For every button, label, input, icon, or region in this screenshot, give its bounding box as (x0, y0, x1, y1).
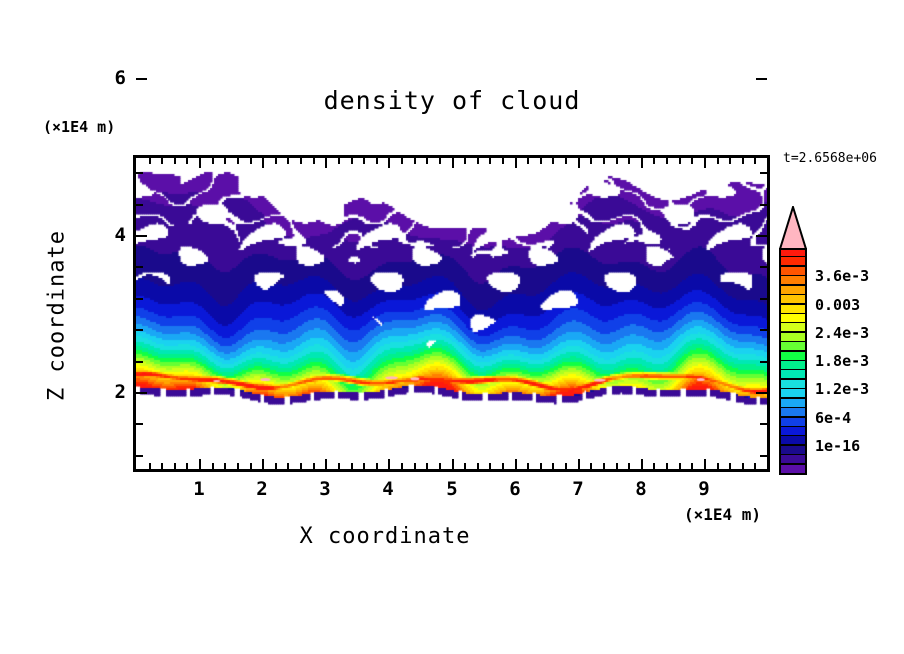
x-minor-tick-top (565, 158, 567, 164)
x-minor-tick-top (212, 158, 214, 164)
x-minor-tick (287, 463, 289, 469)
y-major-tick (136, 392, 147, 394)
x-minor-tick-top (363, 158, 365, 164)
x-tick-label: 5 (446, 478, 457, 500)
x-minor-tick (464, 463, 466, 469)
x-minor-tick-top (401, 158, 403, 164)
figure-root: density of cloud (×1E4 m) t=2.6568e+06 Z… (0, 0, 904, 654)
x-minor-tick-top (174, 158, 176, 164)
x-minor-tick-top (237, 158, 239, 164)
x-minor-tick-top (489, 158, 491, 164)
y-major-tick-right (756, 392, 767, 394)
x-minor-tick-top (439, 158, 441, 164)
x-minor-tick (414, 463, 416, 469)
x-tick-label: 9 (698, 478, 709, 500)
y-major-tick-right (756, 235, 767, 237)
x-minor-tick (742, 463, 744, 469)
x-minor-tick (628, 463, 630, 469)
contour-field (136, 158, 767, 469)
x-minor-tick (313, 463, 315, 469)
x-minor-tick-top (186, 158, 188, 164)
colorbar-tick-label: 3.6e-3 (815, 267, 869, 285)
y-minor-tick-right (760, 204, 767, 206)
x-minor-tick (540, 463, 542, 469)
y-tick-label: 4 (96, 224, 126, 246)
x-axis-title: X coordinate (0, 524, 770, 549)
time-annotation: t=2.6568e+06 (783, 151, 877, 166)
x-minor-tick (275, 463, 277, 469)
y-minor-tick (136, 172, 143, 174)
x-minor-tick-top (161, 158, 163, 164)
x-minor-tick-top (552, 158, 554, 164)
y-minor-tick (136, 423, 143, 425)
x-major-tick (388, 459, 390, 469)
x-minor-tick (565, 463, 567, 469)
x-minor-tick (552, 463, 554, 469)
x-minor-tick-top (502, 158, 504, 164)
x-tick-label: 7 (572, 478, 583, 500)
x-minor-tick (186, 463, 188, 469)
y-tick-label: 2 (96, 381, 126, 403)
plot-area (133, 155, 770, 472)
x-minor-tick-top (477, 158, 479, 164)
x-minor-tick (174, 463, 176, 469)
x-minor-tick (616, 463, 618, 469)
x-minor-tick-top (653, 158, 655, 164)
x-major-tick-top (704, 158, 706, 168)
x-minor-tick (754, 463, 756, 469)
x-minor-tick-top (666, 158, 668, 164)
x-minor-tick-top (691, 158, 693, 164)
y-minor-tick (136, 266, 143, 268)
x-tick-label: 3 (319, 478, 330, 500)
x-tick-label: 6 (509, 478, 520, 500)
x-minor-tick-top (224, 158, 226, 164)
x-minor-tick (237, 463, 239, 469)
x-minor-tick (300, 463, 302, 469)
x-minor-tick-top (742, 158, 744, 164)
x-major-tick-top (452, 158, 454, 168)
x-tick-label: 4 (382, 478, 393, 500)
y-minor-tick (136, 361, 143, 363)
x-minor-tick-top (527, 158, 529, 164)
colorbar-tick-label: 6e-4 (815, 409, 851, 427)
x-minor-tick-top (590, 158, 592, 164)
x-minor-tick-top (464, 158, 466, 164)
colorbar-band (779, 465, 807, 475)
x-minor-tick (161, 463, 163, 469)
x-major-tick (578, 459, 580, 469)
x-minor-tick-top (729, 158, 731, 164)
x-minor-tick (338, 463, 340, 469)
x-minor-tick (224, 463, 226, 469)
y-major-tick (136, 235, 147, 237)
y-minor-tick-right (760, 329, 767, 331)
x-minor-tick-top (338, 158, 340, 164)
x-minor-tick (666, 463, 668, 469)
y-minor-tick-right (760, 298, 767, 300)
x-minor-tick-top (754, 158, 756, 164)
x-minor-tick (351, 463, 353, 469)
x-major-tick-top (388, 158, 390, 168)
x-major-tick-top (325, 158, 327, 168)
x-minor-tick-top (414, 158, 416, 164)
x-major-tick (199, 459, 201, 469)
x-tick-label: 2 (256, 478, 267, 500)
x-minor-tick (527, 463, 529, 469)
x-minor-tick (691, 463, 693, 469)
colorbar (779, 206, 807, 474)
x-minor-tick (679, 463, 681, 469)
x-minor-tick-top (616, 158, 618, 164)
y-axis-title: Z coordinate (45, 226, 70, 406)
y-minor-tick-right (760, 423, 767, 425)
x-minor-tick-top (250, 158, 252, 164)
x-major-tick-top (199, 158, 201, 168)
colorbar-tick-label: 0.003 (815, 296, 860, 314)
y-major-tick-right (756, 78, 767, 80)
x-minor-tick-top (426, 158, 428, 164)
y-minor-tick (136, 455, 143, 457)
chart-title: density of cloud (0, 86, 904, 115)
colorbar-tick-label: 1.8e-3 (815, 352, 869, 370)
y-minor-tick-right (760, 172, 767, 174)
x-major-tick (325, 459, 327, 469)
x-minor-tick-top (376, 158, 378, 164)
x-major-tick (641, 459, 643, 469)
y-minor-tick (136, 298, 143, 300)
x-minor-tick (717, 463, 719, 469)
x-minor-tick (149, 463, 151, 469)
x-major-tick (262, 459, 264, 469)
x-major-tick (704, 459, 706, 469)
x-minor-tick-top (603, 158, 605, 164)
y-minor-tick (136, 329, 143, 331)
x-minor-tick-top (287, 158, 289, 164)
x-major-tick-top (515, 158, 517, 168)
x-axis-unit-label: (×1E4 m) (684, 505, 761, 524)
y-major-tick (136, 78, 147, 80)
x-minor-tick-top (149, 158, 151, 164)
x-tick-label: 1 (193, 478, 204, 500)
x-major-tick-top (641, 158, 643, 168)
x-minor-tick-top (275, 158, 277, 164)
x-minor-tick-top (717, 158, 719, 164)
x-minor-tick (212, 463, 214, 469)
colorbar-tick-label: 1e-16 (815, 437, 860, 455)
y-minor-tick-right (760, 266, 767, 268)
x-minor-tick (401, 463, 403, 469)
x-major-tick-top (262, 158, 264, 168)
x-minor-tick (729, 463, 731, 469)
x-minor-tick (363, 463, 365, 469)
x-major-tick (515, 459, 517, 469)
x-minor-tick (376, 463, 378, 469)
x-minor-tick-top (300, 158, 302, 164)
x-minor-tick (603, 463, 605, 469)
x-major-tick (452, 459, 454, 469)
x-minor-tick (653, 463, 655, 469)
x-minor-tick (439, 463, 441, 469)
y-axis-unit-label: (×1E4 m) (43, 118, 115, 136)
x-minor-tick-top (628, 158, 630, 164)
y-minor-tick-right (760, 361, 767, 363)
x-minor-tick (502, 463, 504, 469)
y-minor-tick-right (760, 455, 767, 457)
x-minor-tick (250, 463, 252, 469)
y-minor-tick (136, 204, 143, 206)
x-minor-tick (489, 463, 491, 469)
colorbar-overflow-arrow (779, 206, 807, 248)
x-minor-tick (426, 463, 428, 469)
x-minor-tick-top (313, 158, 315, 164)
x-minor-tick (590, 463, 592, 469)
y-tick-label: 6 (96, 67, 126, 89)
x-minor-tick (477, 463, 479, 469)
x-minor-tick-top (351, 158, 353, 164)
colorbar-tick-label: 2.4e-3 (815, 324, 869, 342)
x-minor-tick-top (540, 158, 542, 164)
x-tick-label: 8 (635, 478, 646, 500)
x-major-tick-top (578, 158, 580, 168)
colorbar-tick-label: 1.2e-3 (815, 380, 869, 398)
x-minor-tick-top (679, 158, 681, 164)
